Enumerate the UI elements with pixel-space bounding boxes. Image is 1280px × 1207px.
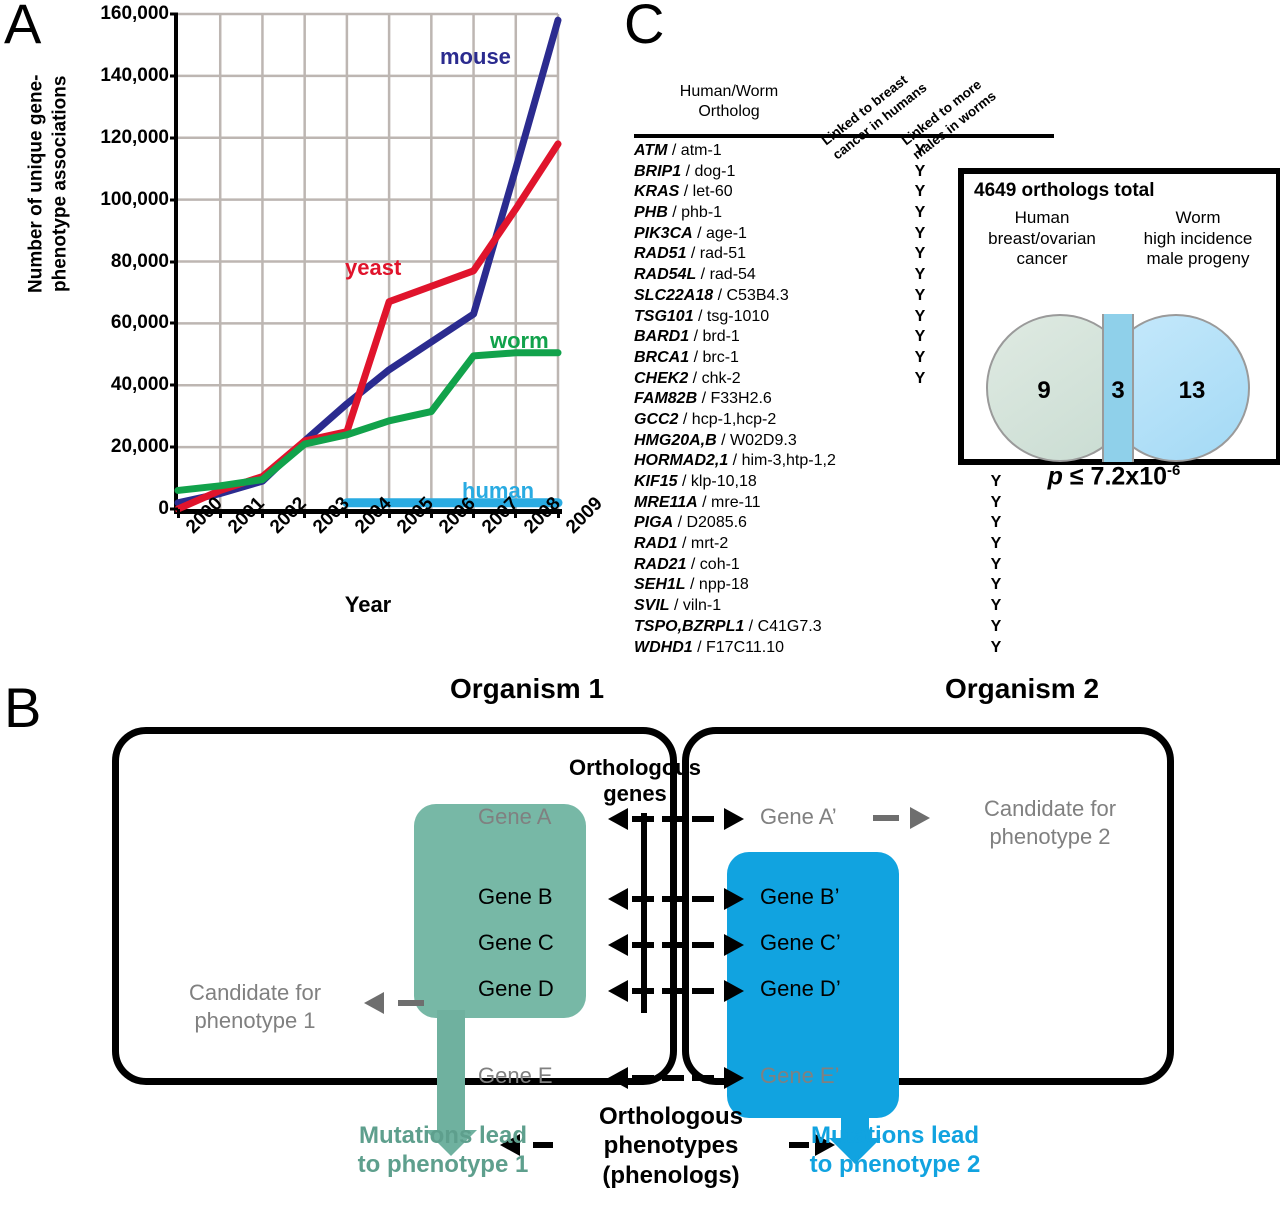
worm-gene-name: / viln-1 bbox=[670, 597, 722, 614]
venn-right-head-l3: male progeny bbox=[1120, 249, 1276, 270]
candidate1-connector-dash bbox=[398, 1000, 424, 1006]
table-row: SVIL / viln-1Y bbox=[634, 597, 1064, 618]
human-gene-name: RAD1 bbox=[634, 535, 678, 552]
gene-label-left: Gene D bbox=[478, 976, 554, 1002]
table-row: TSPO,BZRPL1 / C41G7.3Y bbox=[634, 618, 1064, 639]
venn-left-header: Human breast/ovarian cancer bbox=[964, 208, 1120, 270]
arrow-left-icon bbox=[608, 808, 628, 830]
table-title-line2: Ortholog bbox=[634, 102, 824, 122]
human-gene-name: BARD1 bbox=[634, 328, 689, 345]
worm-gene-name: / chk-2 bbox=[688, 370, 740, 387]
venn-right-header: Worm high incidence male progeny bbox=[1120, 208, 1276, 270]
venn-count-right: 13 bbox=[1134, 377, 1250, 405]
breast-cancer-flag: Y bbox=[882, 225, 958, 243]
ortholog-name-cell: RAD54L / rad-54 bbox=[634, 266, 882, 284]
mut1-l2: to phenotype 1 bbox=[318, 1150, 568, 1179]
worm-gene-name: / C41G7.3 bbox=[744, 618, 821, 635]
p-italic: p bbox=[1048, 462, 1063, 490]
human-gene-name: GCC2 bbox=[634, 411, 678, 428]
human-gene-name: WDHD1 bbox=[634, 639, 693, 656]
panel-c-table: C Linked to breast cancer in humans Link… bbox=[612, 0, 1280, 650]
x-tick-mark bbox=[472, 509, 475, 518]
ortholog-name-cell: BARD1 / brd-1 bbox=[634, 328, 882, 346]
worm-gene-name: / npp-18 bbox=[686, 576, 749, 593]
y-tick-label: 160,000 bbox=[100, 3, 178, 25]
human-gene-name: FAM82B bbox=[634, 390, 697, 407]
y-axis-label-text: Number of unique gene-phenotype associat… bbox=[25, 75, 70, 294]
table-title: Human/Worm Ortholog bbox=[634, 82, 824, 122]
more-males-flag: Y bbox=[958, 494, 1034, 512]
table-row: RAD21 / coh-1Y bbox=[634, 556, 1064, 577]
breast-cancer-flag: Y bbox=[882, 142, 958, 160]
breast-cancer-flag: Y bbox=[882, 308, 958, 326]
breast-cancer-flag: Y bbox=[882, 204, 958, 222]
venn-count-left: 9 bbox=[986, 377, 1102, 405]
dash-segment bbox=[692, 988, 714, 994]
ortholog-name-cell: BRCA1 / brc-1 bbox=[634, 349, 882, 367]
x-tick-mark bbox=[430, 509, 433, 518]
worm-gene-name: / him-3,htp-1,2 bbox=[728, 452, 836, 469]
ortholog-name-cell: KRAS / let-60 bbox=[634, 183, 882, 201]
breast-cancer-flag: Y bbox=[882, 287, 958, 305]
worm-gene-name: / F17C11.10 bbox=[693, 639, 784, 656]
table-title-line1: Human/Worm bbox=[634, 82, 824, 102]
worm-gene-name: / age-1 bbox=[693, 225, 747, 242]
human-gene-name: RAD54L bbox=[634, 266, 696, 283]
breast-cancer-flag: Y bbox=[882, 328, 958, 346]
x-tick-mark bbox=[177, 509, 180, 518]
y-tick-label: 140,000 bbox=[100, 65, 178, 87]
human-gene-name: SVIL bbox=[634, 597, 670, 614]
ortholog-name-cell: MRE11A / mre-11 bbox=[634, 494, 882, 512]
x-tick-mark bbox=[557, 509, 560, 518]
ortholog-name-cell: WDHD1 / F17C11.10 bbox=[634, 639, 882, 657]
venn-right-head-l2: high incidence bbox=[1120, 229, 1276, 250]
human-gene-name: KIF15 bbox=[634, 473, 678, 490]
panel-c-letter: C bbox=[624, 0, 664, 52]
candidate-phenotype-1-label: Candidate for phenotype 1 bbox=[160, 979, 350, 1034]
arrow-left-icon bbox=[608, 934, 628, 956]
panel-b-diagram: B Organism 1 Organism 2 Orthologous gene… bbox=[0, 655, 1280, 1207]
gene-label-right: Gene C’ bbox=[760, 930, 841, 956]
ortholog-name-cell: SVIL / viln-1 bbox=[634, 597, 882, 615]
worm-gene-name: / rad-54 bbox=[696, 266, 756, 283]
x-axis-label: Year bbox=[178, 592, 558, 618]
candidate2-l2: phenotype 2 bbox=[955, 823, 1145, 851]
ortholog-name-cell: FAM82B / F33H2.6 bbox=[634, 390, 882, 408]
table-header-rule bbox=[634, 134, 1054, 138]
arrow-right-icon bbox=[724, 1067, 744, 1089]
table-row: MRE11A / mre-11Y bbox=[634, 494, 1064, 515]
human-gene-name: ATM bbox=[634, 142, 667, 159]
ortholog-name-cell: SEH1L / npp-18 bbox=[634, 576, 882, 594]
breast-cancer-flag: Y bbox=[882, 370, 958, 388]
mut1-l1: Mutations lead bbox=[318, 1121, 568, 1150]
ortholog-name-cell: PIK3CA / age-1 bbox=[634, 225, 882, 243]
gene-label-right: Gene D’ bbox=[760, 976, 841, 1002]
dash-segment bbox=[632, 816, 654, 822]
ortholog-name-cell: TSG101 / tsg-1010 bbox=[634, 308, 882, 326]
venn-left-head-l1: Human bbox=[964, 208, 1120, 229]
more-males-flag: Y bbox=[958, 514, 1034, 532]
worm-gene-name: / rad-51 bbox=[686, 245, 746, 262]
p-value-label: p ≤ 7.2x10-6 bbox=[958, 462, 1270, 491]
worm-gene-name: / brd-1 bbox=[689, 328, 740, 345]
ortholog-name-cell: RAD51 / rad-51 bbox=[634, 245, 882, 263]
ortho-pheno-l3: (phenologs) bbox=[556, 1161, 786, 1190]
human-gene-name: TSPO,BZRPL1 bbox=[634, 618, 744, 635]
table-row: RAD1 / mrt-2Y bbox=[634, 535, 1064, 556]
ortholog-name-cell: GCC2 / hcp-1,hcp-2 bbox=[634, 411, 882, 429]
worm-gene-name: / mre-11 bbox=[698, 494, 761, 511]
worm-gene-name: / atm-1 bbox=[667, 142, 721, 159]
table-row: ATM / atm-1Y bbox=[634, 142, 1064, 163]
arrow-right-icon bbox=[724, 934, 744, 956]
x-tick-mark bbox=[388, 509, 391, 518]
gene-label-left: Gene A bbox=[478, 804, 551, 830]
ortholog-name-cell: HMG20A,B / W02D9.3 bbox=[634, 432, 882, 450]
human-gene-name: RAD21 bbox=[634, 556, 686, 573]
worm-gene-name: / let-60 bbox=[679, 183, 732, 200]
ortholog-name-cell: ATM / atm-1 bbox=[634, 142, 882, 160]
worm-gene-name: / dog-1 bbox=[681, 163, 735, 180]
more-males-flag: Y bbox=[958, 618, 1034, 636]
mut2-l1: Mutations lead bbox=[770, 1121, 1020, 1150]
human-gene-name: TSG101 bbox=[634, 308, 694, 325]
human-gene-name: RAD51 bbox=[634, 245, 686, 262]
human-gene-name: CHEK2 bbox=[634, 370, 688, 387]
worm-gene-name: / tsg-1010 bbox=[694, 308, 770, 325]
p-exponent: -6 bbox=[1167, 462, 1180, 479]
series-label-human: human bbox=[462, 478, 534, 504]
candidate-phenotype-2-label: Candidate for phenotype 2 bbox=[955, 795, 1145, 850]
more-males-flag: Y bbox=[958, 576, 1034, 594]
mutations-phenotype-1-label: Mutations lead to phenotype 1 bbox=[318, 1121, 568, 1180]
y-tick-label: 100,000 bbox=[100, 189, 178, 211]
dash-segment bbox=[692, 816, 714, 822]
candidate2-arrowhead-icon bbox=[910, 807, 930, 829]
human-gene-name: SLC22A18 bbox=[634, 287, 713, 304]
ortholog-name-cell: RAD1 / mrt-2 bbox=[634, 535, 882, 553]
breast-cancer-flag: Y bbox=[882, 163, 958, 181]
y-axis-label: Number of unique gene-phenotype associat… bbox=[24, 34, 72, 334]
candidate1-arrowhead-icon bbox=[364, 992, 384, 1014]
human-gene-name: BRCA1 bbox=[634, 349, 689, 366]
venn-total-label: 4649 orthologs total bbox=[974, 180, 1155, 202]
x-tick-label: 2009 bbox=[562, 493, 607, 538]
series-label-worm: worm bbox=[490, 328, 549, 354]
y-tick-label: 0 bbox=[158, 498, 178, 520]
x-tick-mark bbox=[219, 509, 222, 518]
candidate2-connector-dash bbox=[873, 815, 899, 821]
worm-gene-name: / hcp-1,hcp-2 bbox=[678, 411, 776, 428]
human-gene-name: PIGA bbox=[634, 514, 673, 531]
venn-headers: Human breast/ovarian cancer Worm high in… bbox=[964, 208, 1276, 270]
human-gene-name: PIK3CA bbox=[634, 225, 693, 242]
candidate1-l1: Candidate for bbox=[160, 979, 350, 1007]
human-gene-name: MRE11A bbox=[634, 494, 698, 511]
ortholog-name-cell: SLC22A18 / C53B4.3 bbox=[634, 287, 882, 305]
mutations-phenotype-2-label: Mutations lead to phenotype 2 bbox=[770, 1121, 1020, 1180]
ortho-pheno-l2: phenotypes bbox=[556, 1131, 786, 1160]
gene-label-left: Gene C bbox=[478, 930, 554, 956]
candidate1-l2: phenotype 1 bbox=[160, 1007, 350, 1035]
arrow-right-icon bbox=[724, 808, 744, 830]
arrow-right-icon bbox=[724, 980, 744, 1002]
ortholog-name-cell: HORMAD2,1 / him-3,htp-1,2 bbox=[634, 452, 882, 470]
breast-cancer-flag: Y bbox=[882, 266, 958, 284]
venn-right-head-l1: Worm bbox=[1120, 208, 1276, 229]
worm-gene-name: / D2085.6 bbox=[673, 514, 747, 531]
panel-a-chart: A Number of unique gene-phenotype associ… bbox=[0, 0, 600, 650]
gene-label-left: Gene B bbox=[478, 884, 553, 910]
human-gene-name: BRIP1 bbox=[634, 163, 681, 180]
dash-segment bbox=[662, 896, 684, 902]
worm-gene-name: / brc-1 bbox=[689, 349, 739, 366]
human-gene-name: SEH1L bbox=[634, 576, 686, 593]
ortholog-name-cell: BRIP1 / dog-1 bbox=[634, 163, 882, 181]
y-tick-label: 40,000 bbox=[111, 374, 178, 396]
x-tick-mark bbox=[261, 509, 264, 518]
dash-segment bbox=[692, 896, 714, 902]
table-row: PIGA / D2085.6Y bbox=[634, 514, 1064, 535]
mut2-l2: to phenotype 2 bbox=[770, 1150, 1020, 1179]
arrow-left-icon bbox=[608, 1067, 628, 1089]
x-tick-mark bbox=[303, 509, 306, 518]
dash-segment bbox=[662, 988, 684, 994]
ortholog-name-cell: PIGA / D2085.6 bbox=[634, 514, 882, 532]
dash-segment bbox=[692, 942, 714, 948]
worm-gene-name: / klp-10,18 bbox=[678, 473, 757, 490]
arrow-left-icon bbox=[608, 888, 628, 910]
y-tick-label: 20,000 bbox=[111, 436, 178, 458]
breast-cancer-flag: Y bbox=[882, 183, 958, 201]
human-gene-name: HMG20A,B bbox=[634, 432, 717, 449]
ortholog-name-cell: PHB / phb-1 bbox=[634, 204, 882, 222]
worm-gene-name: / phb-1 bbox=[668, 204, 722, 221]
more-males-flag: Y bbox=[958, 556, 1034, 574]
dash-segment bbox=[662, 942, 684, 948]
human-gene-name: KRAS bbox=[634, 183, 679, 200]
arrow-right-icon bbox=[724, 888, 744, 910]
human-gene-name: HORMAD2,1 bbox=[634, 452, 728, 469]
more-males-flag: Y bbox=[958, 639, 1034, 657]
venn-count-overlap: 3 bbox=[1102, 377, 1134, 405]
series-label-mouse: mouse bbox=[440, 44, 511, 70]
p-rest: ≤ 7.2x10 bbox=[1063, 462, 1167, 490]
y-tick-label: 80,000 bbox=[111, 251, 178, 273]
dash-segment bbox=[662, 1075, 684, 1081]
candidate2-l1: Candidate for bbox=[955, 795, 1145, 823]
dash-segment bbox=[632, 988, 654, 994]
ortholog-name-cell: CHEK2 / chk-2 bbox=[634, 370, 882, 388]
y-tick-label: 120,000 bbox=[100, 127, 178, 149]
y-tick-label: 60,000 bbox=[111, 312, 178, 334]
arrow-left-icon bbox=[608, 980, 628, 1002]
ortholog-name-cell: KIF15 / klp-10,18 bbox=[634, 473, 882, 491]
breast-cancer-flag: Y bbox=[882, 245, 958, 263]
gene-label-right: Gene E’ bbox=[760, 1063, 840, 1089]
breast-cancer-flag: Y bbox=[882, 349, 958, 367]
dash-segment bbox=[632, 942, 654, 948]
worm-gene-name: / F33H2.6 bbox=[697, 390, 772, 407]
worm-gene-name: / W02D9.3 bbox=[717, 432, 797, 449]
orthologous-phenotypes-label: Orthologous phenotypes (phenologs) bbox=[556, 1102, 786, 1190]
ortholog-name-cell: RAD21 / coh-1 bbox=[634, 556, 882, 574]
dash-segment bbox=[692, 1075, 714, 1081]
series-label-yeast: yeast bbox=[345, 255, 401, 281]
dash-segment bbox=[632, 896, 654, 902]
more-males-flag: Y bbox=[958, 535, 1034, 553]
worm-gene-name: / coh-1 bbox=[686, 556, 739, 573]
x-tick-mark bbox=[514, 509, 517, 518]
dash-segment bbox=[632, 1075, 654, 1081]
more-males-flag: Y bbox=[958, 597, 1034, 615]
venn-left-head-l3: cancer bbox=[964, 249, 1120, 270]
worm-gene-name: / C53B4.3 bbox=[713, 287, 789, 304]
gene-label-left: Gene E bbox=[478, 1063, 553, 1089]
table-row: SEH1L / npp-18Y bbox=[634, 576, 1064, 597]
ortholog-name-cell: TSPO,BZRPL1 / C41G7.3 bbox=[634, 618, 882, 636]
ortho-pheno-l1: Orthologous bbox=[556, 1102, 786, 1131]
x-tick-mark bbox=[345, 509, 348, 518]
gene-label-right: Gene A’ bbox=[760, 804, 837, 830]
dash-segment bbox=[662, 816, 684, 822]
venn-diagram-box: 4649 orthologs total Human breast/ovaria… bbox=[958, 168, 1280, 465]
human-gene-name: PHB bbox=[634, 204, 668, 221]
venn-left-head-l2: breast/ovarian bbox=[964, 229, 1120, 250]
worm-gene-name: / mrt-2 bbox=[678, 535, 729, 552]
gene-label-right: Gene B’ bbox=[760, 884, 840, 910]
